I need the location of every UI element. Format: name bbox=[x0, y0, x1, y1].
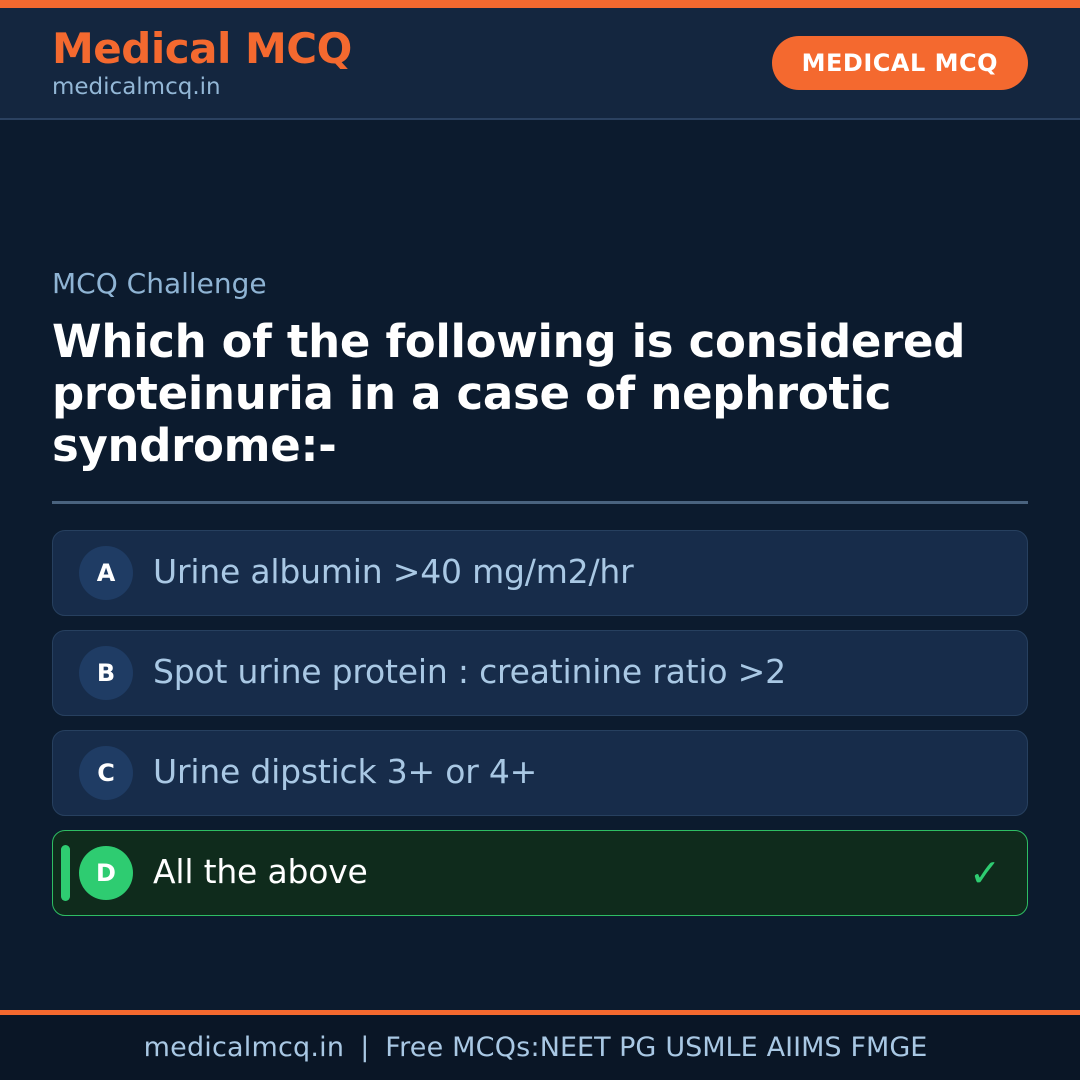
option-letter-badge: D bbox=[79, 846, 133, 900]
option-letter-badge: B bbox=[79, 646, 133, 700]
brand-badge: MEDICAL MCQ bbox=[772, 36, 1028, 90]
footer-tag: FMGE bbox=[851, 1032, 937, 1063]
footer-tag: NEET PG bbox=[540, 1032, 666, 1063]
option-text: Urine albumin >40 mg/m2/hr bbox=[153, 554, 633, 590]
option-letter-badge: A bbox=[79, 546, 133, 600]
option-letter-badge: C bbox=[79, 746, 133, 800]
footer-separator: | bbox=[344, 1032, 385, 1063]
brand-title: Medical MCQ bbox=[52, 28, 352, 70]
option-text: Spot urine protein : creatinine ratio >2 bbox=[153, 654, 786, 690]
footer-label: Free MCQs: bbox=[385, 1032, 539, 1063]
check-icon: ✓ bbox=[969, 854, 1001, 892]
main-content: MCQ Challenge Which of the following is … bbox=[0, 120, 1080, 1010]
footer-wrap: medicalmcq.in | Free MCQs: NEET PGUSMLEA… bbox=[0, 1010, 1080, 1080]
footer-tag: USMLE bbox=[665, 1032, 766, 1063]
top-accent-bar bbox=[0, 0, 1080, 8]
brand-block: Medical MCQ medicalmcq.in bbox=[52, 28, 352, 99]
footer-site: medicalmcq.in bbox=[144, 1032, 345, 1063]
question-text: Which of the following is considered pro… bbox=[52, 316, 1012, 473]
option-text: All the above bbox=[153, 854, 368, 890]
option-text: Urine dipstick 3+ or 4+ bbox=[153, 754, 537, 790]
correct-accent-bar bbox=[61, 845, 70, 901]
footer-tags: NEET PGUSMLEAIIMSFMGE bbox=[540, 1032, 937, 1063]
option-d[interactable]: DAll the above✓ bbox=[52, 830, 1028, 916]
brand-subtitle: medicalmcq.in bbox=[52, 76, 352, 99]
option-c[interactable]: CUrine dipstick 3+ or 4+ bbox=[52, 730, 1028, 816]
question-divider bbox=[52, 501, 1028, 504]
mcq-card: Medical MCQ medicalmcq.in MEDICAL MCQ MC… bbox=[0, 0, 1080, 1080]
option-a[interactable]: AUrine albumin >40 mg/m2/hr bbox=[52, 530, 1028, 616]
kicker-label: MCQ Challenge bbox=[52, 270, 1028, 298]
footer: medicalmcq.in | Free MCQs: NEET PGUSMLEA… bbox=[0, 1015, 1080, 1080]
footer-tag: AIIMS bbox=[767, 1032, 851, 1063]
option-b[interactable]: BSpot urine protein : creatinine ratio >… bbox=[52, 630, 1028, 716]
header: Medical MCQ medicalmcq.in MEDICAL MCQ bbox=[0, 8, 1080, 120]
options-list: AUrine albumin >40 mg/m2/hrBSpot urine p… bbox=[52, 530, 1028, 916]
